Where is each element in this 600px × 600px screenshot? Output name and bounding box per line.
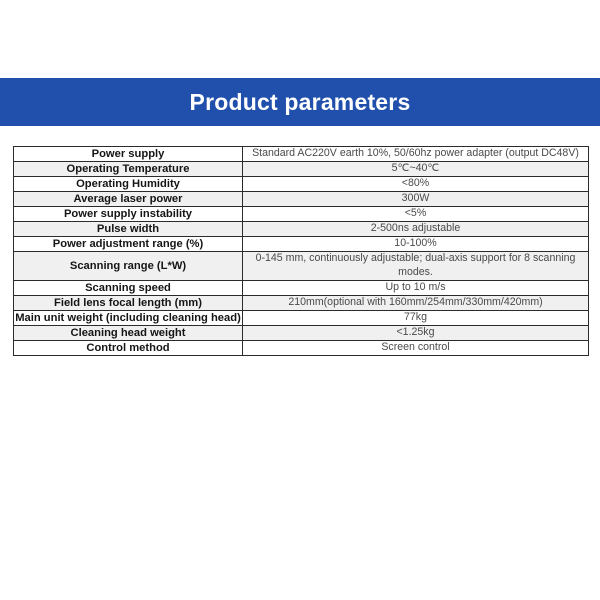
parameter-label: Field lens focal length (mm) (14, 295, 243, 310)
table-row: Field lens focal length (mm)210mm(option… (14, 295, 589, 310)
parameter-label: Operating Temperature (14, 162, 243, 177)
table-row: Average laser power300W (14, 192, 589, 207)
parameter-label: Operating Humidity (14, 177, 243, 192)
table-row: Scanning speedUp to 10 m/s (14, 280, 589, 295)
parameter-value: <1.25kg (243, 325, 589, 340)
table-row: Pulse width2-500ns adjustable (14, 222, 589, 237)
parameter-label: Main unit weight (including cleaning hea… (14, 310, 243, 325)
parameter-label: Power adjustment range (%) (14, 237, 243, 252)
parameter-value: 10-100% (243, 237, 589, 252)
parameter-value: 2-500ns adjustable (243, 222, 589, 237)
parameter-label: Power supply (14, 147, 243, 162)
table-row: Power adjustment range (%)10-100% (14, 237, 589, 252)
table-row: Operating Temperature5℃~40℃ (14, 162, 589, 177)
parameter-label: Power supply instability (14, 207, 243, 222)
parameter-value: 300W (243, 192, 589, 207)
table-row: Cleaning head weight<1.25kg (14, 325, 589, 340)
specifications-table: Power supplyStandard AC220V earth 10%, 5… (13, 146, 589, 356)
parameter-label: Control method (14, 340, 243, 355)
parameter-label: Scanning range (L*W) (14, 252, 243, 281)
parameter-value: <80% (243, 177, 589, 192)
parameter-value: <5% (243, 207, 589, 222)
specifications-table-container: Power supplyStandard AC220V earth 10%, 5… (13, 146, 586, 356)
page-banner: Product parameters (0, 78, 600, 126)
parameter-label: Cleaning head weight (14, 325, 243, 340)
parameter-value: Standard AC220V earth 10%, 50/60hz power… (243, 147, 589, 162)
table-row: Main unit weight (including cleaning hea… (14, 310, 589, 325)
parameter-value: 77kg (243, 310, 589, 325)
product-parameters-page: Product parameters Power supplyStandard … (0, 0, 600, 600)
parameter-label: Scanning speed (14, 280, 243, 295)
table-row: Power supplyStandard AC220V earth 10%, 5… (14, 147, 589, 162)
page-title: Product parameters (190, 91, 411, 114)
parameter-label: Pulse width (14, 222, 243, 237)
parameter-label: Average laser power (14, 192, 243, 207)
table-row: Power supply instability<5% (14, 207, 589, 222)
table-row: Scanning range (L*W)0-145 mm, continuous… (14, 252, 589, 281)
table-row: Operating Humidity<80% (14, 177, 589, 192)
parameter-value: 5℃~40℃ (243, 162, 589, 177)
parameter-value: 0-145 mm, continuously adjustable; dual-… (243, 252, 589, 281)
table-row: Control methodScreen control (14, 340, 589, 355)
specifications-table-body: Power supplyStandard AC220V earth 10%, 5… (14, 147, 589, 356)
parameter-value: 210mm(optional with 160mm/254mm/330mm/42… (243, 295, 589, 310)
parameter-value: Up to 10 m/s (243, 280, 589, 295)
parameter-value: Screen control (243, 340, 589, 355)
